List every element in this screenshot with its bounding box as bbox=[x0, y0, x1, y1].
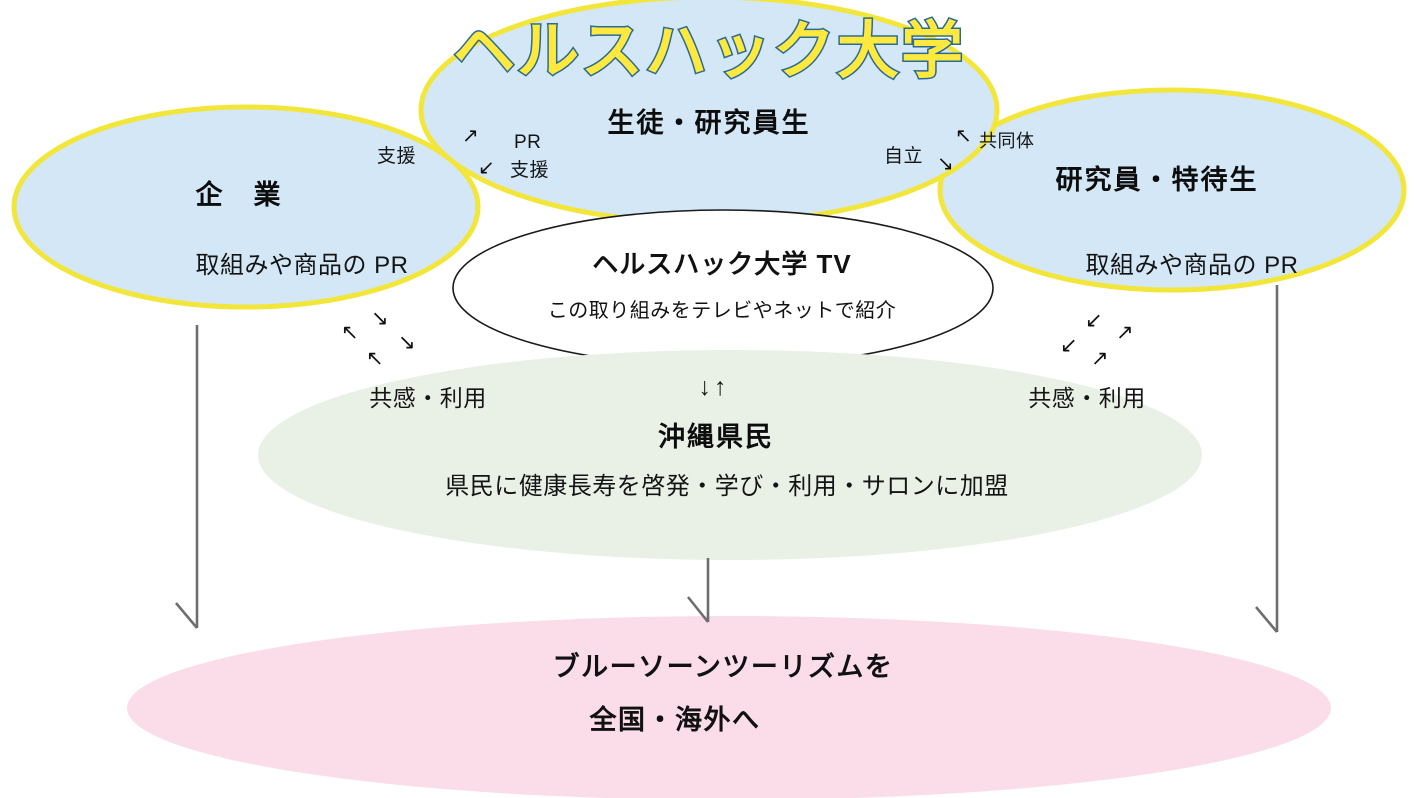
arrow-cluster-right-up-right-icon: ↗ bbox=[1116, 322, 1134, 343]
node-title-citizens: 沖縄県民 bbox=[658, 422, 774, 453]
node-subtitle-citizens: 県民に健康長寿を啓発・学び・利用・サロンに加盟 bbox=[445, 473, 1009, 501]
edge-label-updown-arrows: ↓↑ bbox=[699, 375, 730, 400]
edge-label-pr: PR bbox=[514, 132, 541, 154]
arrow-up-right-icon: ↗ bbox=[462, 126, 479, 146]
node-title-researcher: 研究員・特待生 bbox=[1056, 165, 1259, 196]
node-subtitle-enterprise: 取組みや商品の PR bbox=[195, 252, 408, 280]
connector-right-vertical bbox=[1256, 285, 1277, 632]
node-subtitle-researcher: 取組みや商品の PR bbox=[1085, 252, 1298, 280]
edge-label-empathy-right: 共感・利用 bbox=[1028, 385, 1146, 411]
edge-label-support-left: 支援 bbox=[377, 146, 416, 168]
arrow-cluster-right-down-left-2-icon: ↙ bbox=[1060, 335, 1078, 356]
ellipse-green-citizens bbox=[258, 350, 1202, 560]
arrow-cluster-left-down-right-2-icon: ↘ bbox=[398, 332, 416, 353]
arrow-up-left-icon: ↖ bbox=[955, 126, 972, 146]
arrow-cluster-right-up-right-2-icon: ↗ bbox=[1091, 348, 1109, 369]
connector-left-vertical bbox=[176, 325, 197, 628]
edge-label-empathy-left: 共感・利用 bbox=[369, 385, 487, 411]
node-line1-tourism: ブルーソーンツーリズムを bbox=[553, 652, 894, 683]
node-subtitle-tv: この取り組みをテレビやネットで紹介 bbox=[548, 300, 897, 323]
node-line2-tourism: 全国・海外へ bbox=[590, 705, 761, 736]
diagram-canvas: ヘルスハック大学 生徒・研究員生 企 業 取組みや商品の PR 研究員・特待生 … bbox=[0, 0, 1418, 798]
node-title-enterprise: 企 業 bbox=[196, 180, 283, 211]
arrow-down-right-icon: ↘ bbox=[937, 154, 954, 174]
edge-label-support-top: 支援 bbox=[510, 160, 549, 182]
node-title-students: 生徒・研究員生 bbox=[608, 108, 811, 139]
edge-label-independence: 自立 bbox=[884, 146, 923, 168]
arrow-cluster-left-up-left-icon: ↖ bbox=[341, 322, 359, 343]
arrow-cluster-left-up-left-2-icon: ↖ bbox=[366, 348, 384, 369]
edge-label-community: 共同体 bbox=[979, 131, 1035, 152]
arrow-down-left-icon: ↙ bbox=[478, 158, 495, 178]
connector-center-vertical bbox=[688, 558, 708, 622]
ellipse-center-tv bbox=[453, 210, 993, 366]
arrow-cluster-right-down-left-icon: ↙ bbox=[1085, 310, 1103, 331]
node-title-tv: ヘルスハック大学 TV bbox=[592, 250, 851, 280]
arrow-cluster-left-down-right-icon: ↘ bbox=[371, 308, 389, 329]
